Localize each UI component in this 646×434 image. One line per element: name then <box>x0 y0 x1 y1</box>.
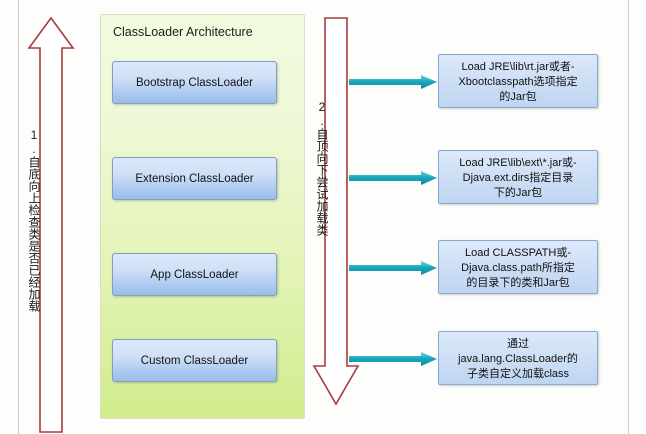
description-line: Djava.class.path所指定 <box>445 261 591 276</box>
connector-arrow-custom <box>349 352 437 366</box>
classloader-architecture-diagram: 1.自底向上检查类是否已经加载 ClassLoader Architecture… <box>0 0 646 434</box>
classloader-label: Bootstrap ClassLoader <box>136 77 253 89</box>
description-line: 下的Jar包 <box>445 186 591 201</box>
bottom-up-check-label: 1.自底向上检查类是否已经加载 <box>28 128 40 312</box>
description-line: java.lang.ClassLoader的 <box>445 352 591 367</box>
panel-title: ClassLoader Architecture <box>113 25 253 39</box>
page-margin-guide-right <box>628 0 629 434</box>
classloader-box-extension[interactable]: Extension ClassLoader <box>112 157 277 200</box>
page-margin-guide-left <box>18 0 19 434</box>
classloader-box-app[interactable]: App ClassLoader <box>112 253 277 296</box>
description-box-extension: Load JRE\lib\ext\*.jar或- Djava.ext.dirs指… <box>438 150 598 204</box>
description-line: Load CLASSPATH或- <box>445 246 591 261</box>
description-line: 的Jar包 <box>445 90 591 105</box>
top-down-load-label: 2.自顶向下尝试加载类 <box>316 100 328 236</box>
connector-arrow-app <box>349 261 437 275</box>
classloader-box-bootstrap[interactable]: Bootstrap ClassLoader <box>112 61 277 104</box>
description-line: Load JRE\lib\ext\*.jar或- <box>445 156 591 171</box>
classloader-label: Extension ClassLoader <box>135 173 253 185</box>
description-box-app: Load CLASSPATH或- Djava.class.path所指定 的目录… <box>438 240 598 294</box>
classloader-box-custom[interactable]: Custom ClassLoader <box>112 339 277 382</box>
connector-arrow-bootstrap <box>349 75 437 89</box>
description-line: Xbootclasspath选项指定 <box>445 75 591 90</box>
description-line: Djava.ext.dirs指定目录 <box>445 171 591 186</box>
description-line: 子类自定义加载class <box>445 367 591 382</box>
description-line: 的目录下的类和Jar包 <box>445 276 591 291</box>
description-line: Load JRE\lib\rt.jar或者- <box>445 60 591 75</box>
description-box-bootstrap: Load JRE\lib\rt.jar或者- Xbootclasspath选项指… <box>438 54 598 108</box>
classloader-label: Custom ClassLoader <box>141 355 248 367</box>
connector-arrow-extension <box>349 171 437 185</box>
description-line: 通过 <box>445 337 591 352</box>
description-box-custom: 通过 java.lang.ClassLoader的 子类自定义加载class <box>438 331 598 385</box>
classloader-label: App ClassLoader <box>150 269 238 281</box>
